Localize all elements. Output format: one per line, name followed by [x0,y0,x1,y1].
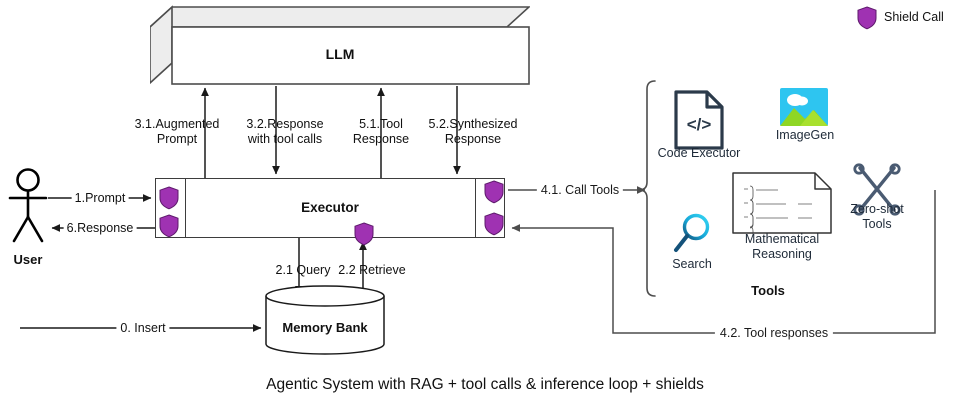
shield-icon-output-response[interactable] [159,214,179,238]
shield-icon-tool-call[interactable] [484,180,504,204]
executor-right-divider [475,178,476,238]
tool-label-search: Search [656,257,728,272]
user-actor[interactable] [6,168,58,248]
tools-group-bracket [639,81,655,296]
magnifier-icon[interactable] [671,212,713,256]
edge-label-insert: 0. Insert [116,321,169,336]
math-document-icon[interactable] [732,172,832,234]
llm-label: LLM [326,46,355,63]
edge-label-response-with-tool-calls: 3.2.Response with tool calls [246,117,323,148]
executor-left-divider [185,178,186,238]
user-label: User [14,252,43,268]
tool-label-zero-shot-tools: Zero-shot Tools [840,202,914,232]
memory-bank-label: Memory Bank [282,320,367,336]
edge-label-tool-response: 5.1.Tool Response [353,117,409,148]
shield-icon-input-prompt[interactable] [159,186,179,210]
edge-label-augmented-prompt: 3.1.Augmented Prompt [135,117,220,148]
diagram-caption: Agentic System with RAG + tool calls & i… [266,376,704,395]
edge-label-retrieve: 2.2 Retrieve [338,263,405,278]
legend-label: Shield Call [884,10,944,25]
tools-group-label: Tools [751,283,785,299]
edge-label-query: 2.1 Query [276,263,331,278]
edge-label-call-tools: 4.1. Call Tools [537,183,623,198]
tool-label-mathematical-reasoning: Mathematical Reasoning [732,232,832,262]
edge-label-prompt: 1.Prompt [72,191,129,206]
shield-icon-memory-retrieve[interactable] [354,222,374,246]
executor-label: Executor [301,200,359,216]
llm-node[interactable] [150,5,530,85]
svg-text:</>: </> [687,115,712,134]
edge-label-synthesized-response: 5.2.Synthesized Response [429,117,518,148]
shield-icon-tool-response[interactable] [484,212,504,236]
legend-shield-icon [857,6,877,30]
tool-label-code-executor: Code Executor [654,146,744,161]
tool-label-imagegen: ImageGen [764,128,846,143]
edge-label-tool-responses: 4.2. Tool responses [715,326,833,341]
edge-label-response: 6.Response [64,221,137,236]
image-gen-icon[interactable] [780,88,828,126]
code-document-icon[interactable]: </> [673,89,725,151]
